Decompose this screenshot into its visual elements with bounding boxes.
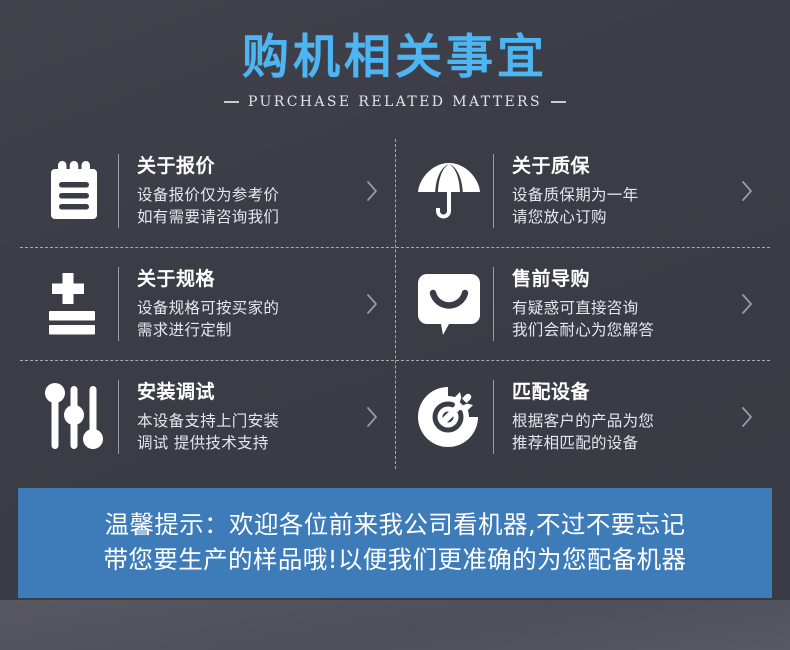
card-desc-line-2: 我们会耐心为您解答 bbox=[512, 319, 732, 341]
card-title: 关于规格 bbox=[137, 268, 357, 292]
chevron-right-icon[interactable] bbox=[357, 179, 387, 203]
page-title: 购机相关事宜 bbox=[0, 30, 790, 85]
card-desc-line-1: 根据客户的产品为您 bbox=[512, 410, 732, 432]
card-divider bbox=[493, 154, 494, 228]
card-desc-line-2: 需求进行定制 bbox=[137, 319, 357, 341]
target-arrow-icon bbox=[409, 378, 489, 456]
dash-right-decoration bbox=[551, 101, 566, 103]
card-title: 安装调试 bbox=[137, 381, 357, 405]
card-text-block: 关于规格 设备规格可按买家的 需求进行定制 bbox=[137, 268, 357, 342]
purchase-info-page: 购机相关事宜 PURCHASE RELATED MATTERS bbox=[0, 0, 790, 650]
card-desc-line-2: 推荐相匹配的设备 bbox=[512, 432, 732, 454]
chevron-right-icon[interactable] bbox=[357, 405, 387, 429]
card-text-block: 售前导购 有疑惑可直接咨询 我们会耐心为您解答 bbox=[512, 268, 732, 342]
umbrella-icon bbox=[409, 152, 489, 230]
card-text-block: 安装调试 本设备支持上门安装 调试 提供技术支持 bbox=[137, 381, 357, 455]
footer-strip bbox=[0, 600, 790, 650]
notice-line-1: 温馨提示：欢迎各位前来我公司看机器,不过不要忘记 bbox=[105, 508, 686, 543]
card-title: 关于报价 bbox=[137, 155, 357, 179]
card-matching-equipment[interactable]: 匹配设备 根据客户的产品为您 推荐相匹配的设备 bbox=[395, 361, 770, 473]
card-desc-line-2: 请您放心订购 bbox=[512, 206, 732, 228]
notice-banner: 温馨提示：欢迎各位前来我公司看机器,不过不要忘记 带您要生产的样品哦!以便我们更… bbox=[18, 488, 772, 598]
card-title: 匹配设备 bbox=[512, 381, 732, 405]
equalizer-icon bbox=[34, 378, 114, 456]
page-subtitle-english: PURCHASE RELATED MATTERS bbox=[248, 94, 542, 110]
chevron-right-icon[interactable] bbox=[357, 292, 387, 316]
card-divider bbox=[118, 380, 119, 454]
card-text-block: 匹配设备 根据客户的产品为您 推荐相匹配的设备 bbox=[512, 381, 732, 455]
card-row: 关于报价 设备报价仅为参考价 如有需要请咨询我们 bbox=[20, 135, 770, 247]
card-desc-line-2: 如有需要请咨询我们 bbox=[137, 206, 357, 228]
card-desc-line-1: 设备质保期为一年 bbox=[512, 184, 732, 206]
card-text-block: 关于质保 设备质保期为一年 请您放心订购 bbox=[512, 155, 732, 229]
card-divider bbox=[118, 267, 119, 341]
card-desc-line-1: 设备报价仅为参考价 bbox=[137, 184, 357, 206]
dash-left-decoration bbox=[224, 101, 239, 103]
card-title: 关于质保 bbox=[512, 155, 732, 179]
chevron-right-icon[interactable] bbox=[732, 292, 762, 316]
chat-smile-icon bbox=[409, 265, 489, 343]
chevron-right-icon[interactable] bbox=[732, 179, 762, 203]
page-header: 购机相关事宜 PURCHASE RELATED MATTERS bbox=[0, 0, 790, 110]
card-text-block: 关于报价 设备报价仅为参考价 如有需要请咨询我们 bbox=[137, 155, 357, 229]
card-row: 安装调试 本设备支持上门安装 调试 提供技术支持 bbox=[20, 360, 770, 473]
card-desc-line-2: 调试 提供技术支持 bbox=[137, 432, 357, 454]
card-about-quote[interactable]: 关于报价 设备报价仅为参考价 如有需要请咨询我们 bbox=[20, 135, 395, 247]
card-divider bbox=[493, 380, 494, 454]
info-card-grid: 关于报价 设备报价仅为参考价 如有需要请咨询我们 bbox=[20, 135, 770, 473]
notepad-icon bbox=[34, 152, 114, 230]
card-about-warranty[interactable]: 关于质保 设备质保期为一年 请您放心订购 bbox=[395, 135, 770, 247]
card-presale-guide[interactable]: 售前导购 有疑惑可直接咨询 我们会耐心为您解答 bbox=[395, 248, 770, 360]
card-divider bbox=[118, 154, 119, 228]
card-divider bbox=[493, 267, 494, 341]
notice-line-2: 带您要生产的样品哦!以便我们更准确的为您配备机器 bbox=[104, 543, 687, 578]
subtitle-row: PURCHASE RELATED MATTERS bbox=[0, 94, 790, 110]
card-title: 售前导购 bbox=[512, 268, 732, 292]
chevron-right-icon[interactable] bbox=[732, 405, 762, 429]
card-installation-debug[interactable]: 安装调试 本设备支持上门安装 调试 提供技术支持 bbox=[20, 361, 395, 473]
card-desc-line-1: 有疑惑可直接咨询 bbox=[512, 297, 732, 319]
card-desc-line-1: 设备规格可按买家的 bbox=[137, 297, 357, 319]
card-about-specs[interactable]: 关于规格 设备规格可按买家的 需求进行定制 bbox=[20, 248, 395, 360]
plus-equals-icon bbox=[34, 265, 114, 343]
card-desc-line-1: 本设备支持上门安装 bbox=[137, 410, 357, 432]
card-row: 关于规格 设备规格可按买家的 需求进行定制 bbox=[20, 247, 770, 360]
